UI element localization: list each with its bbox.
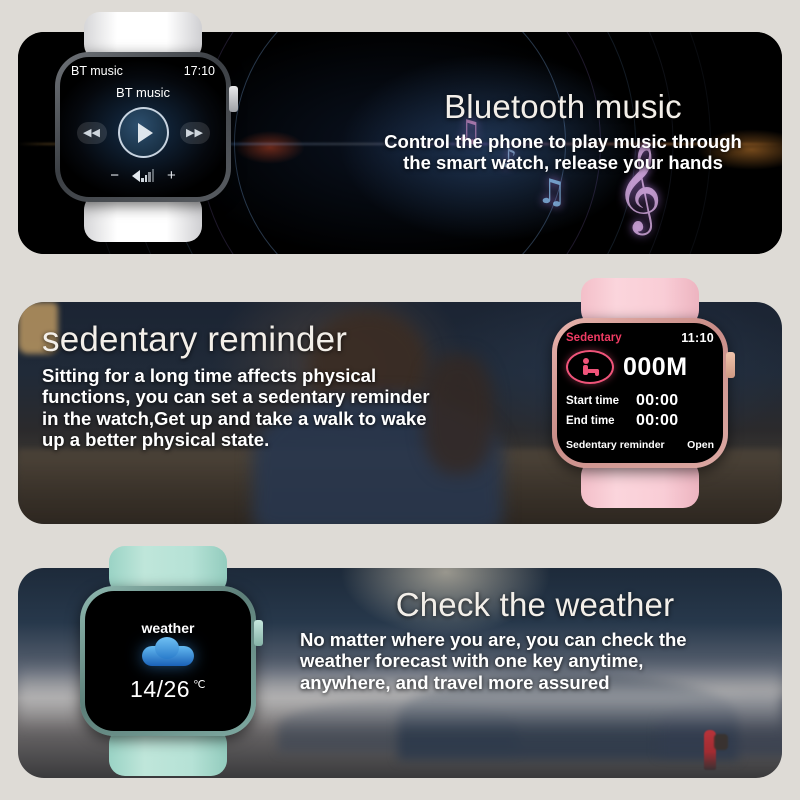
panel-headline: sedentary reminder	[42, 322, 512, 359]
end-time-value: 00:00	[636, 412, 678, 430]
status-clock: 17:10	[184, 64, 215, 78]
cloud-icon	[142, 646, 194, 666]
music-status-bar: BT music 17:10	[60, 57, 226, 78]
watch-screen-weather[interactable]: weather 14/26℃	[85, 591, 251, 731]
watch-case: Sedentary 11:10 000M Start time 00:00 En	[552, 318, 728, 468]
music-volume-controls: − +	[60, 167, 226, 184]
start-time-label: Start time	[566, 395, 628, 407]
fast-forward-icon[interactable]: ▶▶	[180, 122, 210, 144]
start-time-value: 00:00	[636, 392, 678, 410]
sedentary-copy-block: sedentary reminder Sitting for a long ti…	[42, 322, 512, 451]
watch-case: BT music 17:10 BT music ◀◀ ▶▶ − +	[55, 52, 231, 202]
weather-copy-block: Check the weather No matter where you ar…	[300, 588, 770, 693]
watch-crown-button[interactable]	[254, 620, 263, 646]
now-playing-title: BT music	[60, 85, 226, 100]
watch-screen-sedentary[interactable]: Sedentary 11:10 000M Start time 00:00 En	[557, 323, 723, 463]
volume-up-button[interactable]: +	[167, 167, 176, 184]
sedentary-app-name: Sedentary	[566, 332, 622, 344]
panel-headline: Bluetooth music	[348, 90, 778, 125]
panel-subcopy: Control the phone to play music through …	[348, 131, 778, 174]
status-clock: 11:10	[681, 331, 714, 345]
sedentary-summary: 000M	[566, 350, 714, 384]
watch-screen-music-player[interactable]: BT music 17:10 BT music ◀◀ ▶▶ − +	[60, 57, 226, 197]
rewind-icon[interactable]: ◀◀	[77, 122, 107, 144]
sedentary-reminder-state: Open	[687, 439, 714, 451]
table-row[interactable]: Start time 00:00	[566, 392, 714, 410]
sedentary-distance-value: 000M	[623, 353, 688, 382]
sedentary-time-rows: Start time 00:00 End time 00:00	[566, 392, 714, 430]
product-feature-page: 𝄞 ♫ ♪ ♫ Bluetooth music Control the phon…	[0, 0, 800, 800]
watch-crown-button[interactable]	[229, 86, 238, 112]
music-copy-block: Bluetooth music Control the phone to pla…	[348, 90, 778, 174]
temperature-range: 14/26	[130, 676, 190, 702]
panel-subcopy: No matter where you are, you can check t…	[300, 629, 770, 693]
play-icon[interactable]	[118, 107, 169, 158]
weather-temperature: 14/26℃	[130, 676, 206, 703]
sedentary-reminder-label: Sedentary reminder	[566, 439, 665, 451]
watch-crown-button[interactable]	[726, 352, 735, 378]
panel-subcopy: Sitting for a long time affects physical…	[42, 365, 512, 451]
smartwatch-sedentary: Sedentary 11:10 000M Start time 00:00 En	[552, 318, 728, 468]
seated-person-icon	[566, 350, 614, 384]
volume-down-button[interactable]: −	[110, 167, 119, 184]
smartwatch-weather: weather 14/26℃	[80, 586, 256, 736]
temperature-unit: ℃	[193, 679, 206, 691]
sedentary-toggle-row[interactable]: Sedentary reminder Open	[566, 439, 714, 451]
smartwatch-music: BT music 17:10 BT music ◀◀ ▶▶ − +	[55, 52, 231, 202]
music-transport-controls: ◀◀ ▶▶	[60, 107, 226, 158]
weather-app-title: weather	[142, 620, 195, 636]
watch-case: weather 14/26℃	[80, 586, 256, 736]
end-time-label: End time	[566, 415, 628, 427]
speaker-icon	[132, 169, 154, 182]
music-app-name: BT music	[71, 64, 123, 78]
hiker-decoration	[704, 730, 716, 770]
panel-headline: Check the weather	[300, 588, 770, 623]
sedentary-status-bar: Sedentary 11:10	[566, 331, 714, 345]
table-row[interactable]: End time 00:00	[566, 412, 714, 430]
